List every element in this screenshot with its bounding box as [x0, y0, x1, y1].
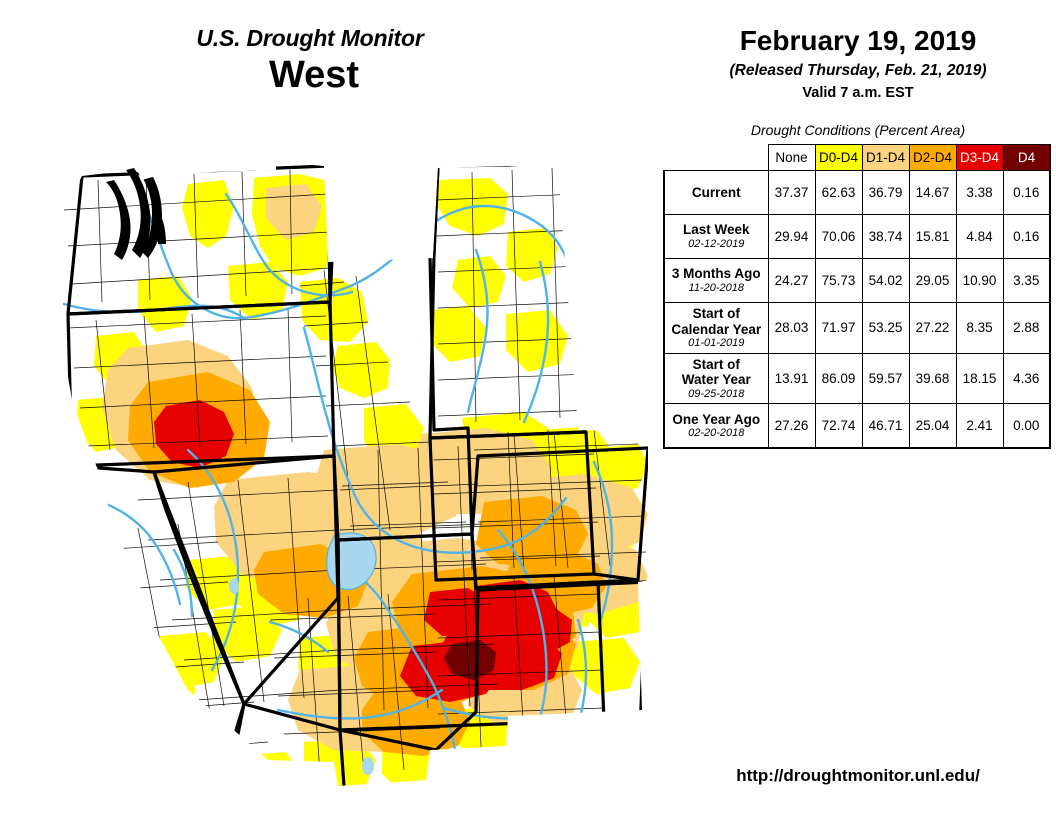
cell-3months-d4: 3.35 — [1003, 259, 1050, 303]
col-header-none: None — [768, 145, 815, 171]
cell-3months-d1d4: 54.02 — [862, 259, 909, 303]
row-label-date: 11-20-2018 — [669, 282, 764, 295]
row-label-name: Start of Calendar Year — [669, 306, 764, 337]
cell-3months-none: 24.27 — [768, 259, 815, 303]
cell-oneyear-d1d4: 46.71 — [862, 404, 909, 448]
cell-oneyear-d4: 0.00 — [1003, 404, 1050, 448]
row-label-date: 02-20-2018 — [669, 427, 764, 440]
row-label-name: Last Week — [669, 222, 764, 238]
cell-oneyear-d0d4: 72.74 — [815, 404, 862, 448]
cell-calyear-d3d4: 8.35 — [956, 303, 1003, 354]
row-label-last-week: Last Week 02-12-2019 — [664, 215, 768, 259]
cell-wateryear-d1d4: 59.57 — [862, 353, 909, 404]
cell-current-d3d4: 3.38 — [956, 171, 1003, 215]
cell-current-d0d4: 62.63 — [815, 171, 862, 215]
table-row: Start of Water Year 09-25-2018 13.91 86.… — [664, 353, 1050, 404]
release-date: (Released Thursday, Feb. 21, 2019) — [660, 62, 1056, 80]
col-header-d2-d4: D2-D4 — [909, 145, 956, 171]
cell-wateryear-d3d4: 18.15 — [956, 353, 1003, 404]
cell-current-none: 37.37 — [768, 171, 815, 215]
cell-current-d2d4: 14.67 — [909, 171, 956, 215]
cell-lastweek-d1d4: 38.74 — [862, 215, 909, 259]
map-panel: U.S. Drought Monitor West — [0, 0, 660, 816]
cell-lastweek-d4: 0.16 — [1003, 215, 1050, 259]
row-label-start-water-year: Start of Water Year 09-25-2018 — [664, 353, 768, 404]
row-label-date: 09-25-2018 — [669, 388, 764, 401]
table-header: None D0-D4 D1-D4 D2-D4 D3-D4 D4 — [664, 145, 1050, 171]
cell-wateryear-none: 13.91 — [768, 353, 815, 404]
row-label-start-calendar-year: Start of Calendar Year 01-01-2019 — [664, 303, 768, 354]
page-title: U.S. Drought Monitor — [0, 26, 660, 50]
row-label-name: Start of Water Year — [669, 357, 764, 388]
row-label-date: 01-01-2019 — [669, 337, 764, 350]
cell-lastweek-d3d4: 4.84 — [956, 215, 1003, 259]
col-header-d3-d4: D3-D4 — [956, 145, 1003, 171]
table-row: 3 Months Ago 11-20-2018 24.27 75.73 54.0… — [664, 259, 1050, 303]
cell-calyear-d1d4: 53.25 — [862, 303, 909, 354]
cell-wateryear-d2d4: 39.68 — [909, 353, 956, 404]
cell-calyear-d4: 2.88 — [1003, 303, 1050, 354]
cell-oneyear-d3d4: 2.41 — [956, 404, 1003, 448]
cell-wateryear-d0d4: 86.09 — [815, 353, 862, 404]
cell-3months-d3d4: 10.90 — [956, 259, 1003, 303]
table-row: Last Week 02-12-2019 29.94 70.06 38.74 1… — [664, 215, 1050, 259]
table-header-row: None D0-D4 D1-D4 D2-D4 D3-D4 D4 — [664, 145, 1050, 171]
table-body: Current 37.37 62.63 36.79 14.67 3.38 0.1… — [664, 171, 1050, 448]
table-corner-cell — [664, 145, 768, 171]
cell-current-d1d4: 36.79 — [862, 171, 909, 215]
row-label-date: 02-12-2019 — [669, 238, 764, 251]
table-row: Start of Calendar Year 01-01-2019 28.03 … — [664, 303, 1050, 354]
info-panel: February 19, 2019 (Released Thursday, Fe… — [660, 0, 1056, 816]
cell-3months-d2d4: 29.05 — [909, 259, 956, 303]
map-svg[interactable] — [38, 150, 648, 800]
cell-oneyear-d2d4: 25.04 — [909, 404, 956, 448]
drought-map[interactable] — [38, 150, 648, 800]
title-block: U.S. Drought Monitor West — [0, 26, 660, 98]
region-title: West — [0, 54, 660, 98]
row-label-name: 3 Months Ago — [669, 266, 764, 282]
col-header-d1-d4: D1-D4 — [862, 145, 909, 171]
row-label-name: One Year Ago — [669, 412, 764, 428]
cell-3months-d0d4: 75.73 — [815, 259, 862, 303]
row-label-3-months-ago: 3 Months Ago 11-20-2018 — [664, 259, 768, 303]
cell-calyear-d0d4: 71.97 — [815, 303, 862, 354]
col-header-d4: D4 — [1003, 145, 1050, 171]
date-block: February 19, 2019 (Released Thursday, Fe… — [660, 26, 1056, 101]
cell-calyear-d2d4: 27.22 — [909, 303, 956, 354]
cell-lastweek-none: 29.94 — [768, 215, 815, 259]
cell-current-d4: 0.16 — [1003, 171, 1050, 215]
cell-oneyear-none: 27.26 — [768, 404, 815, 448]
cell-lastweek-d2d4: 15.81 — [909, 215, 956, 259]
col-header-d0-d4: D0-D4 — [815, 145, 862, 171]
row-label-one-year-ago: One Year Ago 02-20-2018 — [664, 404, 768, 448]
row-label-name: Current — [669, 185, 764, 201]
cell-wateryear-d4: 4.36 — [1003, 353, 1050, 404]
table-caption: Drought Conditions (Percent Area) — [660, 122, 1056, 138]
drought-conditions-table: None D0-D4 D1-D4 D2-D4 D3-D4 D4 Current … — [663, 144, 1051, 449]
valid-time: Valid 7 a.m. EST — [660, 85, 1056, 101]
website-url[interactable]: http://droughtmonitor.unl.edu/ — [660, 766, 1056, 786]
cell-calyear-none: 28.03 — [768, 303, 815, 354]
table-row: Current 37.37 62.63 36.79 14.67 3.38 0.1… — [664, 171, 1050, 215]
row-label-current: Current — [664, 171, 768, 215]
report-date: February 19, 2019 — [660, 26, 1056, 57]
cell-lastweek-d0d4: 70.06 — [815, 215, 862, 259]
table-row: One Year Ago 02-20-2018 27.26 72.74 46.7… — [664, 404, 1050, 448]
